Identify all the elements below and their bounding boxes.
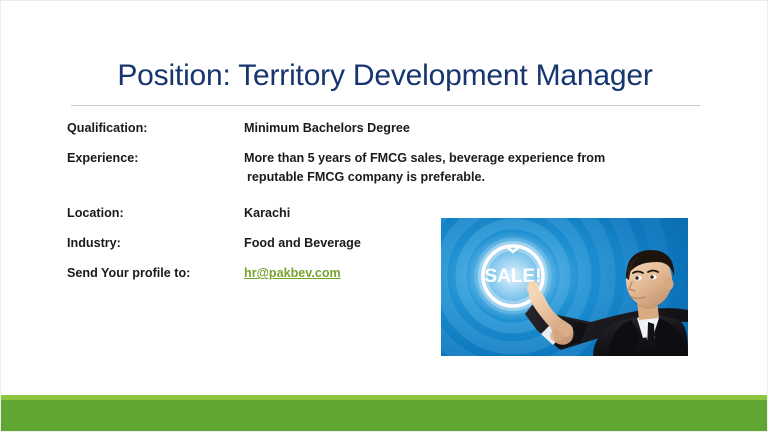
qualification-value: Minimum Bachelors Degree: [244, 119, 707, 137]
qualification-label: Qualification:: [67, 119, 244, 137]
businessman-pressing-sale-button-photo: SALE!: [441, 218, 688, 356]
experience-label: Experience:: [67, 149, 244, 167]
experience-value-line-1: More than 5 years of FMCG sales, beverag…: [244, 151, 605, 165]
industry-label: Industry:: [67, 234, 244, 252]
title-divider: [71, 105, 700, 106]
experience-value: More than 5 years of FMCG sales, beverag…: [244, 149, 654, 186]
experience-value-line-2: reputable FMCG company is preferable.: [244, 168, 654, 186]
detail-row-experience: Experience: More than 5 years of FMCG sa…: [67, 149, 707, 186]
bottom-accent-band-dark: [1, 400, 768, 431]
title-block: Position: Territory Development Manager: [1, 59, 768, 93]
slide-canvas: Position: Territory Development Manager …: [0, 0, 768, 432]
contact-label: Send Your profile to:: [67, 264, 244, 282]
location-label: Location:: [67, 204, 244, 222]
page-title: Position: Territory Development Manager: [1, 59, 768, 93]
detail-row-qualification: Qualification: Minimum Bachelors Degree: [67, 119, 707, 137]
sale-photo-graphic: SALE!: [441, 218, 688, 356]
email-link[interactable]: hr@pakbev.com: [244, 266, 341, 280]
